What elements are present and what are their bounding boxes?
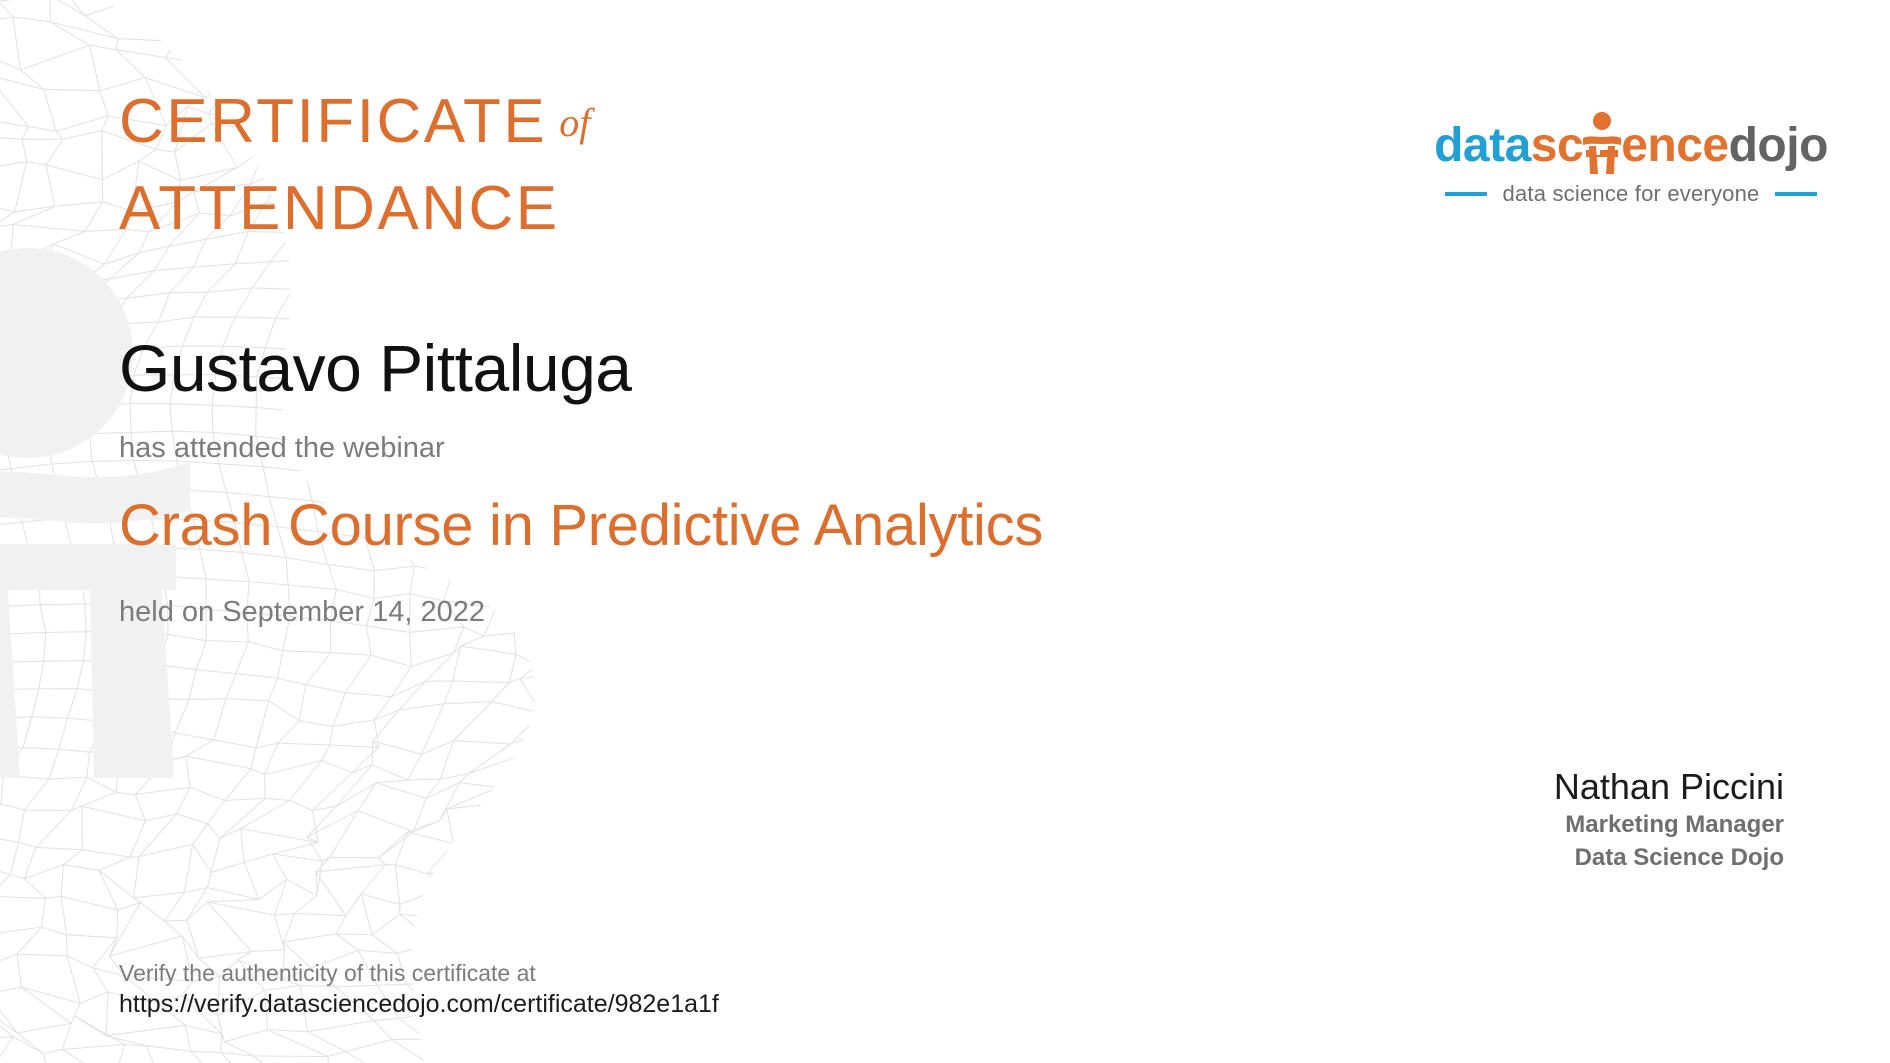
verification-label: Verify the authenticity of this certific…	[119, 958, 719, 988]
torii-gate-icon	[1582, 112, 1622, 174]
signer-organization: Data Science Dojo	[1554, 842, 1784, 875]
logo-word-data: data	[1434, 122, 1531, 170]
logo-tagline-row: data science for everyone	[1426, 181, 1836, 207]
signature-block: Nathan Piccini Marketing Manager Data Sc…	[1554, 765, 1784, 874]
course-title: Crash Course in Predictive Analytics	[119, 492, 1043, 559]
certificate-page: CERTIFICATEof ATTENDANCE datascencedojo …	[0, 0, 1890, 1063]
attended-label: has attended the webinar	[119, 432, 445, 465]
logo-word-sc: sc	[1531, 122, 1583, 170]
heading-line-1: CERTIFICATE	[119, 87, 547, 156]
logo-tagline: data science for everyone	[1503, 181, 1760, 207]
recipient-name: Gustavo Pittaluga	[119, 330, 631, 406]
signer-title: Marketing Manager	[1554, 809, 1784, 842]
tagline-dash-right	[1775, 192, 1817, 196]
certificate-heading: CERTIFICATEof ATTENDANCE	[119, 82, 1019, 249]
logo-word-dojo: dojo	[1729, 122, 1828, 170]
heading-of-word: of	[547, 100, 590, 145]
heading-line-2: ATTENDANCE	[119, 169, 1019, 249]
signer-name: Nathan Piccini	[1554, 765, 1784, 809]
logo-wordmark: datascencedojo	[1426, 108, 1836, 170]
logo-word-ence: ence	[1621, 122, 1728, 170]
held-on-date: held on September 14, 2022	[119, 596, 485, 629]
verification-url-link[interactable]: https://verify.datasciencedojo.com/certi…	[119, 990, 719, 1018]
datasciencedojo-logo: datascencedojo data science for everyone	[1426, 108, 1836, 207]
tagline-dash-left	[1445, 192, 1487, 196]
verification-block: Verify the authenticity of this certific…	[119, 958, 719, 1021]
